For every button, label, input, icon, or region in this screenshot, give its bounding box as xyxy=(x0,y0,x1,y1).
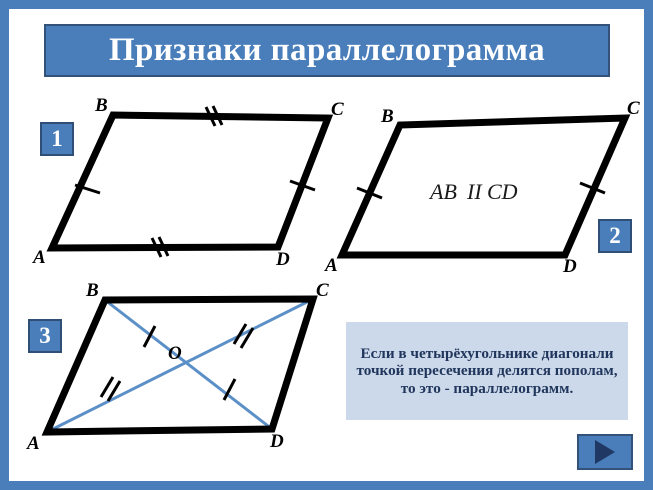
parallelogram-3-label-d: D xyxy=(269,431,284,452)
parallelogram-3-label-c: C xyxy=(316,280,329,301)
presentation-slide: Признаки параллелограмма A B C D AB II C… xyxy=(0,0,653,490)
parallelogram-3-diagonal-ac xyxy=(47,299,313,432)
figure-badge-2: 2 xyxy=(598,219,632,253)
parallelogram-3-label-b: B xyxy=(85,280,99,301)
play-triangle-icon xyxy=(595,440,615,464)
statement-text: Если в четырёхугольнике диагонали точкой… xyxy=(352,345,622,397)
parallelogram-3-label-o: O xyxy=(168,343,182,364)
parallelogram-3-diagonal-bd xyxy=(105,300,272,429)
figure-badge-3: 3 xyxy=(28,319,62,353)
statement-callout-box: Если в четырёхугольнике диагонали точкой… xyxy=(346,322,628,420)
figure-badge-1: 1 xyxy=(40,122,74,156)
next-slide-button[interactable] xyxy=(577,434,633,470)
parallelogram-3-label-a: A xyxy=(26,433,40,454)
